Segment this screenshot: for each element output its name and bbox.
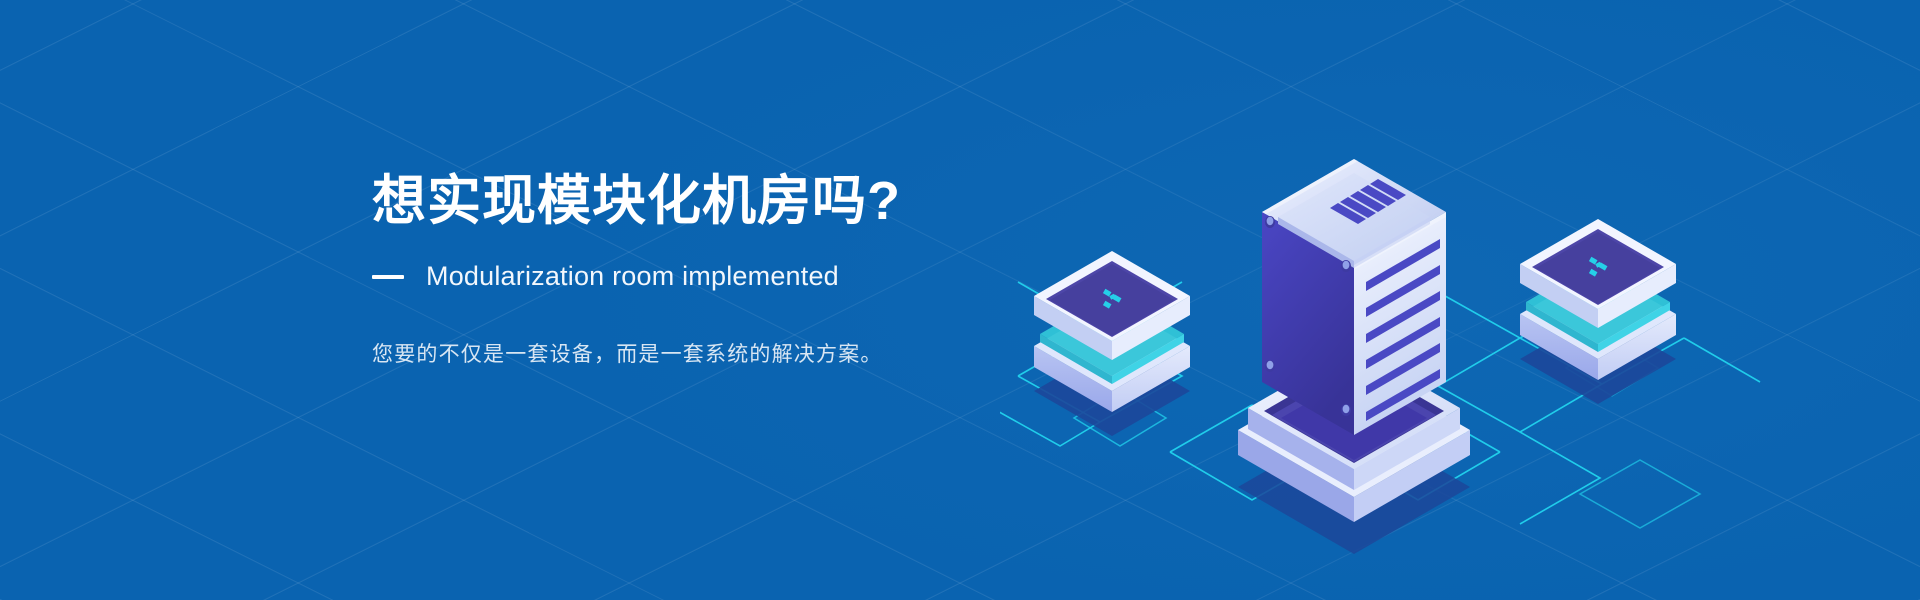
isometric-datacenter-illustration bbox=[1000, 60, 1780, 560]
server-tower bbox=[1238, 159, 1470, 554]
chip-module-left bbox=[1034, 251, 1190, 436]
subtitle-row: Modularization room implemented bbox=[372, 261, 1092, 292]
chip-module-right bbox=[1520, 219, 1676, 404]
page-title: 想实现模块化机房吗? bbox=[372, 172, 1092, 231]
hero-banner: 想实现模块化机房吗? Modularization room implement… bbox=[0, 0, 1920, 600]
page-subtitle: Modularization room implemented bbox=[426, 261, 839, 292]
dash-divider-icon bbox=[372, 275, 404, 279]
page-description: 您要的不仅是一套设备，而是一套系统的解决方案。 bbox=[372, 338, 1092, 368]
hero-text-block: 想实现模块化机房吗? Modularization room implement… bbox=[372, 172, 1092, 368]
